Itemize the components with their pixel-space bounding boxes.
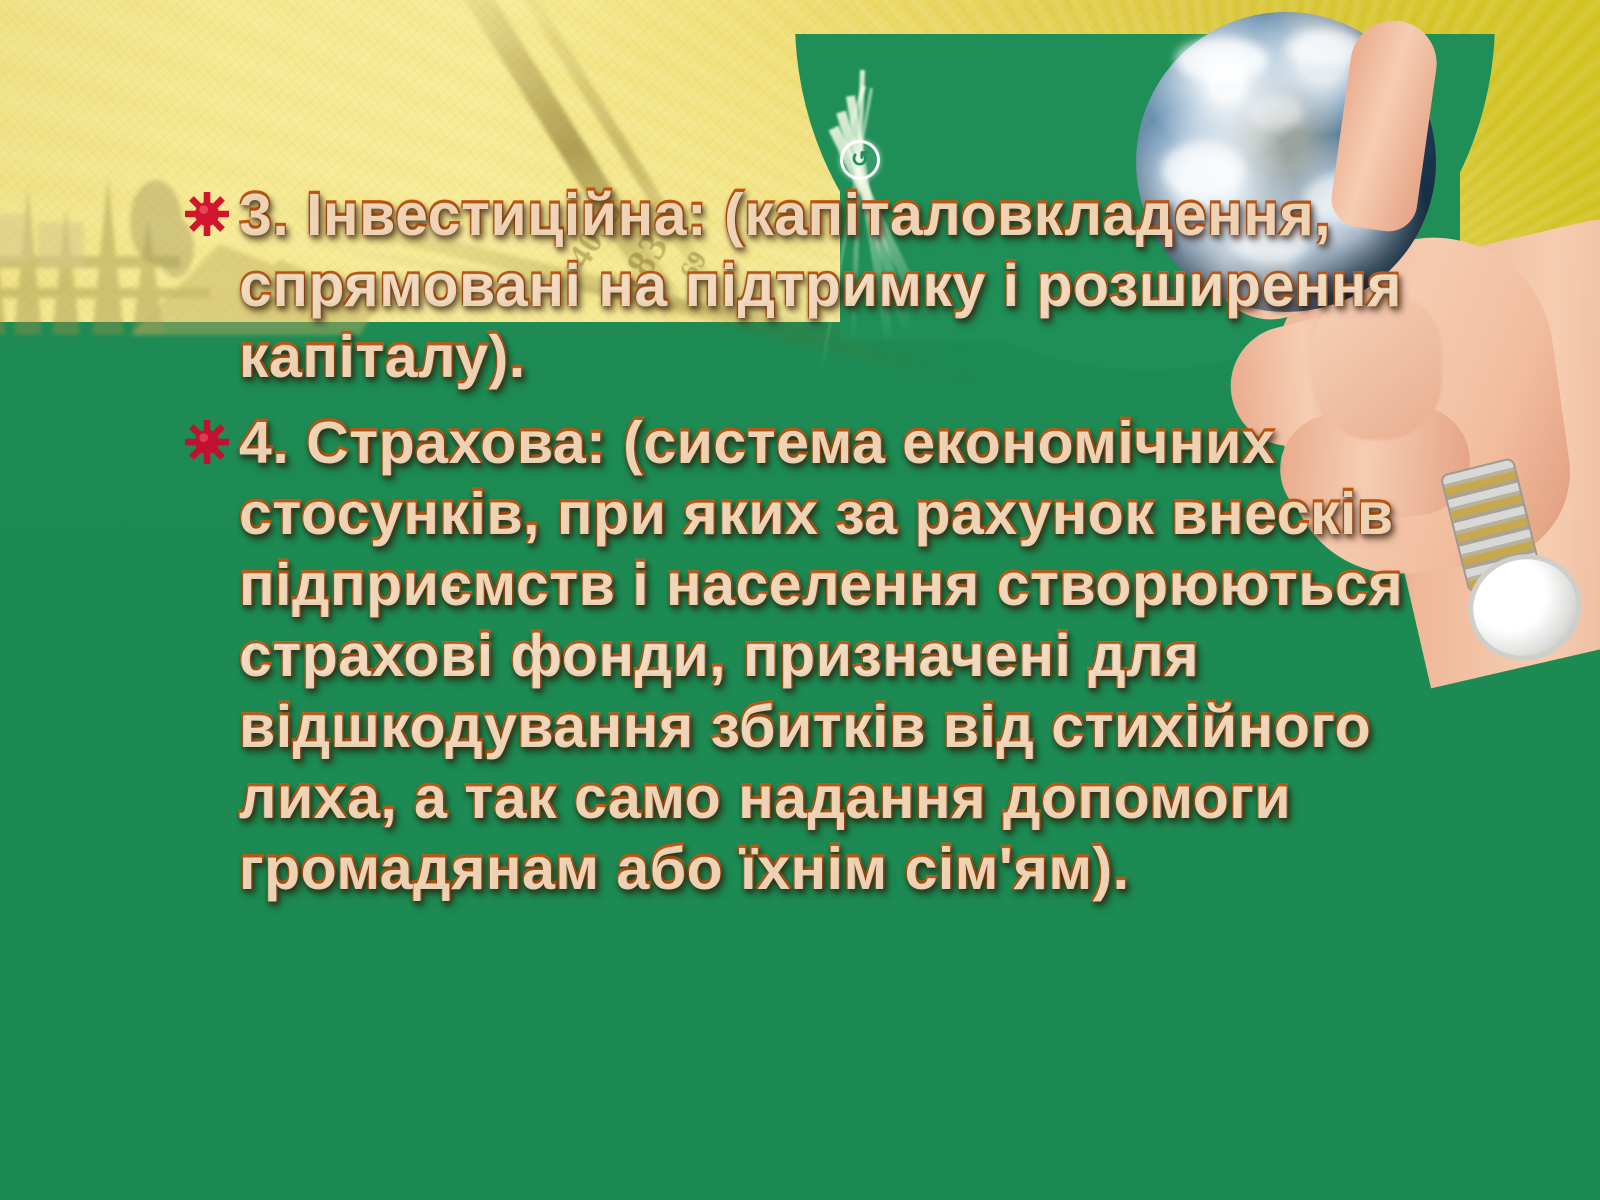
- bullet-4-line-2: стосунків, при яких за рахунок внесків: [239, 477, 1403, 548]
- bullet-4-line-1: 4. Страхова: (система економічних: [239, 406, 1403, 477]
- bullet-4-line-7: громадянам або їхнім сім'ям).: [239, 832, 1403, 903]
- bullet-item-3: 3. Інвестиційна: (капіталовкладення, спр…: [185, 178, 1445, 391]
- bullet-4-text: 4. Страхова: (система економічних стосун…: [239, 406, 1403, 903]
- bullet-4-line-5: відшкодування збитків від стихійного: [239, 690, 1403, 761]
- bullet-4-line-4: страхові фонди, призначені для: [239, 619, 1403, 690]
- starburst-bullet-icon: [185, 192, 229, 236]
- bullet-3-line-1: 3. Інвестиційна: (капіталовкладення,: [239, 178, 1402, 249]
- presentation-slide: 4035 183 15 69: [0, 0, 1600, 1200]
- slide-content: 3. Інвестиційна: (капіталовкладення, спр…: [0, 0, 1600, 1200]
- bullet-item-4: 4. Страхова: (система економічних стосун…: [185, 406, 1425, 903]
- bullet-3-text: 3. Інвестиційна: (капіталовкладення, спр…: [239, 178, 1402, 391]
- starburst-bullet-icon: [185, 420, 229, 464]
- bullet-4-line-3: підприємств і населення створюються: [239, 548, 1403, 619]
- bullet-3-line-3: капіталу).: [239, 320, 1402, 391]
- bullet-3-line-2: спрямовані на підтримку і розширення: [239, 249, 1402, 320]
- bullet-4-line-6: лиха, а так само надання допомоги: [239, 761, 1403, 832]
